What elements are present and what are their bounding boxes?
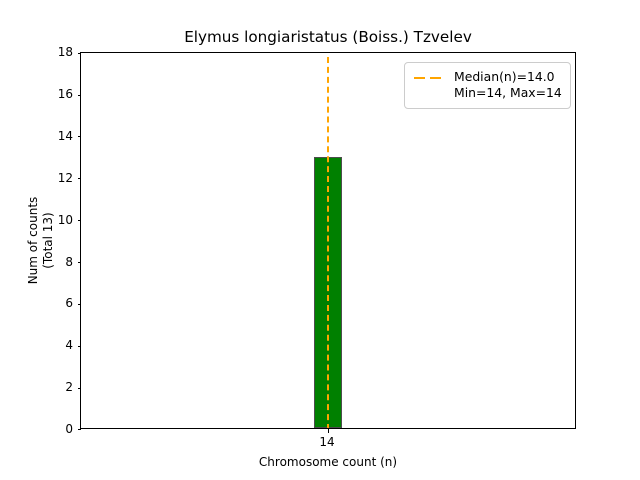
ytick-mark-8 <box>78 262 82 263</box>
legend-label-median: Median(n)=14.0 <box>454 69 562 85</box>
x-axis-label: Chromosome count (n) <box>80 455 576 469</box>
ytick-mark-14 <box>78 136 82 137</box>
ytick-mark-18 <box>78 53 82 54</box>
legend-label-minmax: Min=14, Max=14 <box>454 85 562 101</box>
plot-area <box>81 53 575 428</box>
ytick-mark-6 <box>78 304 82 305</box>
ytick-mark-2 <box>78 388 82 389</box>
ytick-mark-0 <box>78 429 82 430</box>
ytick-mark-12 <box>78 178 82 179</box>
y-axis-label-line1: Num of counts <box>26 52 41 429</box>
xtick-mark-14 <box>328 429 329 433</box>
y-axis-label-line2: (Total 13) <box>41 52 56 429</box>
median-line-icon <box>413 70 447 86</box>
page-title: Elymus longiaristatus (Boiss.) Tzvelev <box>80 28 576 46</box>
ytick-mark-16 <box>78 95 82 96</box>
ytick-mark-4 <box>78 346 82 347</box>
median-line <box>327 57 329 428</box>
chart-figure: Elymus longiaristatus (Boiss.) Tzvelev 0… <box>0 0 640 480</box>
legend-text: Median(n)=14.0 Min=14, Max=14 <box>454 69 562 101</box>
xtick-label-14: 14 <box>301 436 353 448</box>
y-axis-label: Num of counts (Total 13) <box>26 52 56 429</box>
ytick-mark-10 <box>78 220 82 221</box>
legend: Median(n)=14.0 Min=14, Max=14 <box>404 62 571 109</box>
